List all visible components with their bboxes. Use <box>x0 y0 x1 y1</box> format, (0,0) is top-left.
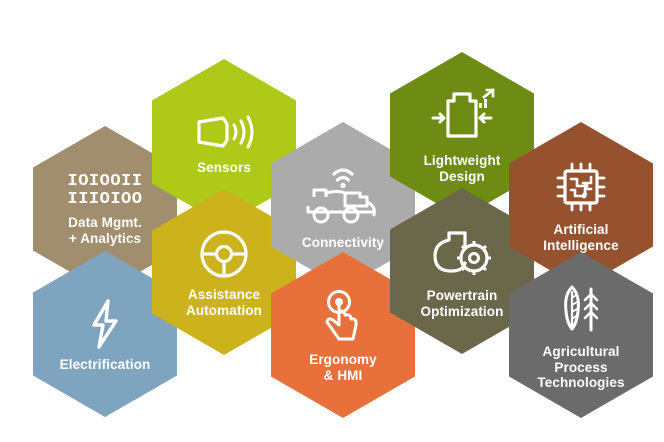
wifi-waves <box>334 170 352 188</box>
hex-label-agricultural-process-technologies: Agricultural Process Technologies <box>537 344 624 392</box>
hex-label-lightweight-design: Lightweight Design <box>424 153 501 185</box>
gear-shape <box>457 241 491 275</box>
binary-data-icon: IOIOOII IIIOIOO <box>68 173 143 208</box>
wheat-corn-icon <box>553 281 609 337</box>
lightning-bolt-icon <box>84 298 126 350</box>
compression-arrows-icon <box>427 88 497 146</box>
harvester-body <box>308 190 374 222</box>
hexagon-diagram-board: IOIOOII IIIOIOO Data Mgmt. + Analytics E… <box>0 0 664 442</box>
corn-cob <box>566 287 579 329</box>
engine-gear-icon <box>427 225 497 281</box>
touch-hand-icon <box>317 289 369 345</box>
hex-label-powertrain-optimization: Powertrain Optimization <box>421 288 504 320</box>
tractor-wifi-icon <box>304 162 382 228</box>
hex-label-data-management-analytics: Data Mgmt. + Analytics <box>68 215 142 247</box>
hex-label-sensors: Sensors <box>197 160 251 176</box>
hex-label-connectivity: Connectivity <box>302 235 384 251</box>
binary-digits: IOIOOII IIIOIOO <box>68 172 143 208</box>
hex-label-electrification: Electrification <box>60 357 151 373</box>
hex-label-ergonomy-hmi: Ergonomy & HMI <box>309 352 377 384</box>
hex-label-artificial-intelligence: Artificial Intelligence <box>543 222 618 254</box>
wheat-ear <box>585 289 597 330</box>
hex-label-assistance-automation: Assistance Automation <box>186 287 262 319</box>
microchip-icon <box>553 159 609 215</box>
steering-wheel-icon <box>198 228 250 280</box>
sensor-waves-icon <box>193 111 255 153</box>
growth-arrow-icon <box>479 90 493 108</box>
